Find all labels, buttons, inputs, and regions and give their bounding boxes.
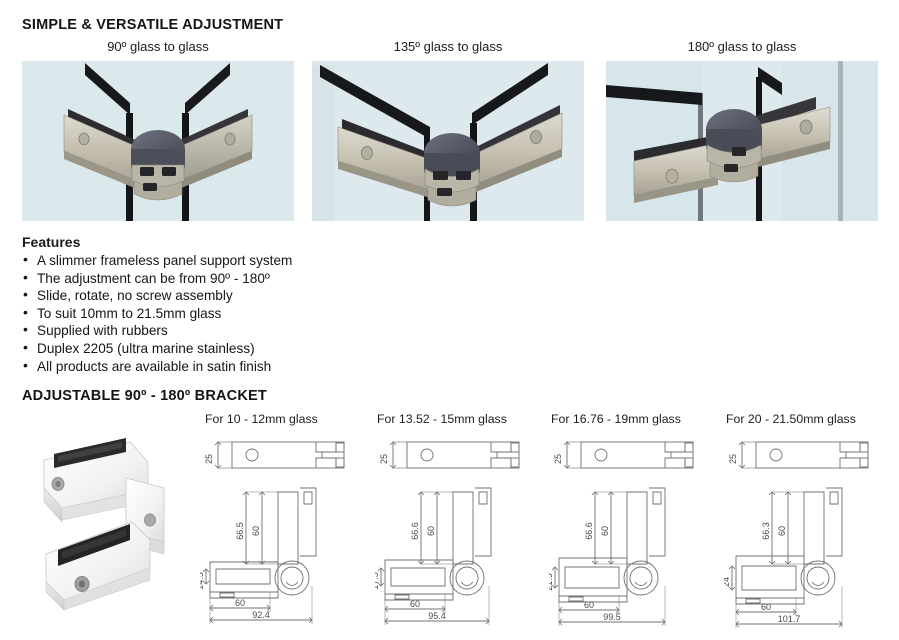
dim-top-height: 25	[204, 454, 214, 464]
page-title-simple-versatile: SIMPLE & VERSATILE ADJUSTMENT	[22, 17, 283, 33]
dim-vertical-inner: 60	[600, 526, 610, 536]
feature-item: Slide, rotate, no screw assembly	[22, 287, 292, 305]
feature-item: Duplex 2205 (ultra marine stainless)	[22, 340, 292, 358]
dim-left-inner: 24	[724, 577, 731, 587]
drawing-1-svg: 25 66.5 60 25.9 14.5 60 92.4	[200, 436, 375, 632]
dim-top-height: 25	[728, 454, 738, 464]
photo-90-illustration	[22, 61, 294, 221]
dim-vertical-outer: 66.3	[761, 522, 771, 540]
dim-bottom-inner: 60	[410, 599, 420, 609]
datasheet-page: SIMPLE & VERSATILE ADJUSTMENT 90º glass …	[0, 0, 899, 640]
technical-drawing-10-12: 25 66.5 60 25.9 14.5 60 92.4	[200, 436, 375, 632]
bracket-3d-render	[22, 432, 200, 612]
drawing-caption-1352-15: For 13.52 - 15mm glass	[377, 412, 507, 426]
dim-vertical-inner: 60	[777, 526, 787, 536]
dim-left-inner: 21.5	[549, 573, 554, 591]
dim-bottom-inner: 60	[235, 598, 245, 608]
dim-top-height: 25	[379, 454, 389, 464]
drawing-caption-10-12: For 10 - 12mm glass	[205, 412, 318, 426]
dim-bottom-outer: 95.4	[428, 611, 446, 621]
technical-drawing-1676-19: 25 66.6 60 32.9 21.5 60 99.5	[549, 436, 724, 632]
dim-top-height: 25	[553, 454, 563, 464]
photo-135-glass-to-glass	[312, 61, 584, 221]
photo-180-illustration	[606, 61, 878, 221]
dim-vertical-inner: 60	[426, 526, 436, 536]
photo-caption-180: 180º glass to glass	[606, 39, 878, 54]
technical-drawing-1352-15: 25 66.6 60 28.9 17.5 60 95.4	[375, 436, 550, 632]
feature-item: The adjustment can be from 90º - 180º	[22, 270, 292, 288]
dim-vertical-outer: 66.6	[410, 522, 420, 540]
drawing-caption-1676-19: For 16.76 - 19mm glass	[551, 412, 681, 426]
feature-item: All products are available in satin fini…	[22, 358, 292, 376]
drawing-4-svg: 25 66.3 60 35.4 24 60 101.7	[724, 436, 899, 632]
features-list: A slimmer frameless panel support system…	[22, 252, 292, 375]
dim-left-inner: 17.5	[375, 572, 380, 590]
dim-vertical-inner: 60	[251, 526, 261, 536]
photo-90-glass-to-glass	[22, 61, 294, 221]
features-heading: Features	[22, 234, 80, 250]
photo-caption-90: 90º glass to glass	[22, 39, 294, 54]
feature-item: To suit 10mm to 21.5mm glass	[22, 305, 292, 323]
dim-bottom-outer: 92.4	[252, 610, 270, 620]
drawing-3-svg: 25 66.6 60 32.9 21.5 60 99.5	[549, 436, 724, 632]
dim-bottom-outer: 99.5	[603, 612, 621, 622]
dim-bottom-outer: 101.7	[778, 614, 801, 624]
bracket-render-illustration	[22, 432, 200, 612]
dim-bottom-inner: 60	[584, 600, 594, 610]
dim-vertical-outer: 66.6	[584, 522, 594, 540]
drawing-caption-20-2150: For 20 - 21.50mm glass	[726, 412, 856, 426]
technical-drawing-20-2150: 25 66.3 60 35.4 24 60 101.7	[724, 436, 899, 632]
dim-vertical-outer: 66.5	[235, 522, 245, 540]
photo-135-illustration	[312, 61, 584, 221]
feature-item: A slimmer frameless panel support system	[22, 252, 292, 270]
dim-left-inner: 14.5	[200, 572, 205, 590]
feature-item: Supplied with rubbers	[22, 322, 292, 340]
dim-bottom-inner: 60	[761, 602, 771, 612]
photo-180-glass-to-glass	[606, 61, 878, 221]
drawing-2-svg: 25 66.6 60 28.9 17.5 60 95.4	[375, 436, 550, 632]
photo-caption-135: 135º glass to glass	[312, 39, 584, 54]
page-title-adjustable-bracket: ADJUSTABLE 90º - 180º BRACKET	[22, 388, 267, 404]
